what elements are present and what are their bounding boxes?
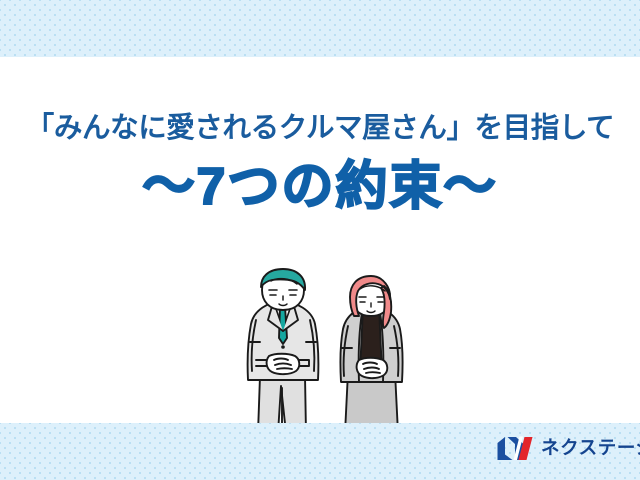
male-clasped-hands — [267, 354, 300, 374]
female-staff-figure — [340, 276, 402, 433]
top-dotted-band — [0, 0, 640, 57]
nextage-n-logo-icon — [496, 436, 534, 461]
poster-canvas: 「みんなに愛されるクルマ屋さん」を目指して ～7つの約束～ — [0, 0, 640, 480]
two-bowing-staff-illustration — [238, 268, 418, 433]
headline-block: 「みんなに愛されるクルマ屋さん」を目指して ～7つの約束～ — [0, 112, 640, 216]
brand-logo: ネクステージ — [496, 436, 640, 461]
brand-wordmark: ネクステージ — [541, 439, 640, 458]
headline-primary-text: 「みんなに愛されるクルマ屋さん」を目指して — [0, 112, 640, 146]
headline-secondary-text: ～7つの約束～ — [0, 159, 640, 216]
female-clasped-hands — [357, 358, 388, 378]
male-staff-figure — [248, 269, 319, 433]
